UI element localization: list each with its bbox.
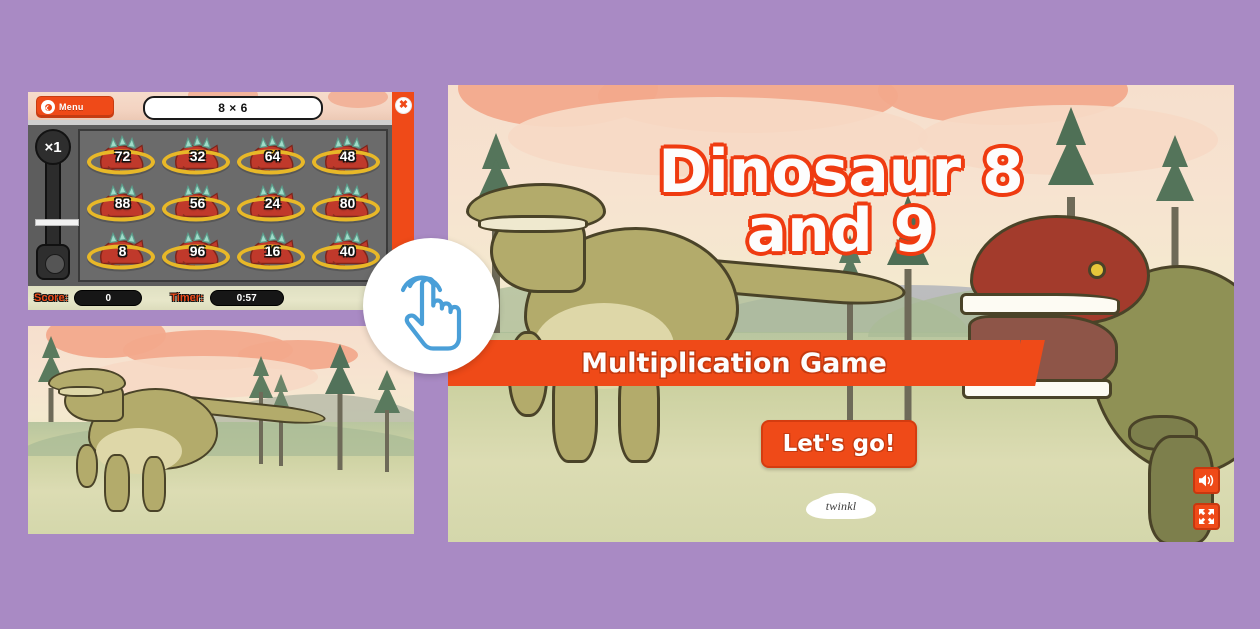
cloud-shape	[328, 92, 388, 108]
brand-name: twinkl	[826, 499, 857, 514]
answer-token[interactable]: 40	[308, 229, 383, 277]
multiplier-slider[interactable]: ×1	[31, 127, 75, 284]
score-label: Score:	[34, 292, 68, 304]
fullscreen-button[interactable]	[1193, 503, 1220, 530]
close-button[interactable]: ✖	[395, 97, 412, 114]
subtitle-banner: Multiplication Game	[448, 340, 1020, 386]
answer-token[interactable]: 16	[233, 229, 308, 277]
game-body: ×1 72326448885624808961640	[28, 125, 392, 286]
answer-token[interactable]: 64	[233, 134, 308, 182]
score-value: 0	[74, 290, 142, 306]
title-line-1: Dinosaur 8	[448, 143, 1234, 202]
question-display: 8 × 6	[143, 96, 323, 120]
token-value: 32	[190, 148, 206, 164]
answer-token[interactable]: 56	[158, 182, 233, 230]
multiplier-badge: ×1	[35, 129, 71, 165]
dinosaur-scene-panel	[28, 326, 414, 534]
token-value: 16	[265, 243, 281, 259]
token-value: 96	[190, 243, 206, 259]
start-button-label: Let's go!	[783, 431, 896, 457]
sound-toggle-button[interactable]	[1193, 467, 1220, 494]
token-value: 56	[190, 195, 206, 211]
status-bar: Score: 0 Timer: 0:57	[28, 286, 414, 310]
game-screen-panel: Menu 8 × 6 ✖ ×1 72326448885624808961640 …	[28, 92, 414, 310]
token-value: 64	[265, 148, 281, 164]
title-screen-panel: Dinosaur 8 and 9 Multiplication Game Let…	[448, 85, 1234, 542]
answer-token[interactable]: 80	[308, 182, 383, 230]
touch-tap-hand-icon	[390, 260, 472, 352]
token-value: 88	[115, 195, 131, 211]
timer-label: Timer:	[170, 292, 203, 304]
speaker-volume-icon	[1198, 473, 1215, 488]
answer-token-grid[interactable]: 72326448885624808961640	[78, 129, 388, 282]
menu-button[interactable]: Menu	[36, 96, 114, 118]
answer-token[interactable]: 24	[233, 182, 308, 230]
answer-token[interactable]: 8	[83, 229, 158, 277]
answer-token[interactable]: 72	[83, 134, 158, 182]
answer-token[interactable]: 96	[158, 229, 233, 277]
touch-cursor-indicator	[363, 238, 499, 374]
tree	[370, 370, 404, 472]
token-value: 40	[340, 243, 356, 259]
token-value: 24	[265, 195, 281, 211]
answer-token[interactable]: 32	[158, 134, 233, 182]
game-topbar: Menu 8 × 6	[28, 92, 414, 125]
slider-knob[interactable]	[36, 244, 70, 280]
twinkl-logo: twinkl	[813, 493, 869, 519]
answer-token[interactable]: 88	[83, 182, 158, 230]
dinosaur-illustration	[48, 362, 338, 522]
timer-value: 0:57	[210, 290, 284, 306]
subtitle-text: Multiplication Game	[581, 348, 887, 379]
title-line-2: and 9	[448, 202, 1234, 261]
token-value: 72	[115, 148, 131, 164]
close-x-icon: ✖	[399, 100, 408, 111]
start-button[interactable]: Let's go!	[761, 420, 917, 468]
expand-arrows-icon	[1198, 508, 1215, 525]
answer-token[interactable]: 48	[308, 134, 383, 182]
token-value: 8	[119, 243, 127, 259]
slider-notch	[35, 219, 79, 226]
title-block: Dinosaur 8 and 9	[448, 143, 1234, 261]
back-arrow-circle-icon	[41, 100, 55, 114]
token-value: 80	[340, 195, 356, 211]
menu-button-label: Menu	[59, 102, 84, 112]
question-text: 8 × 6	[218, 101, 248, 115]
token-value: 48	[340, 148, 356, 164]
